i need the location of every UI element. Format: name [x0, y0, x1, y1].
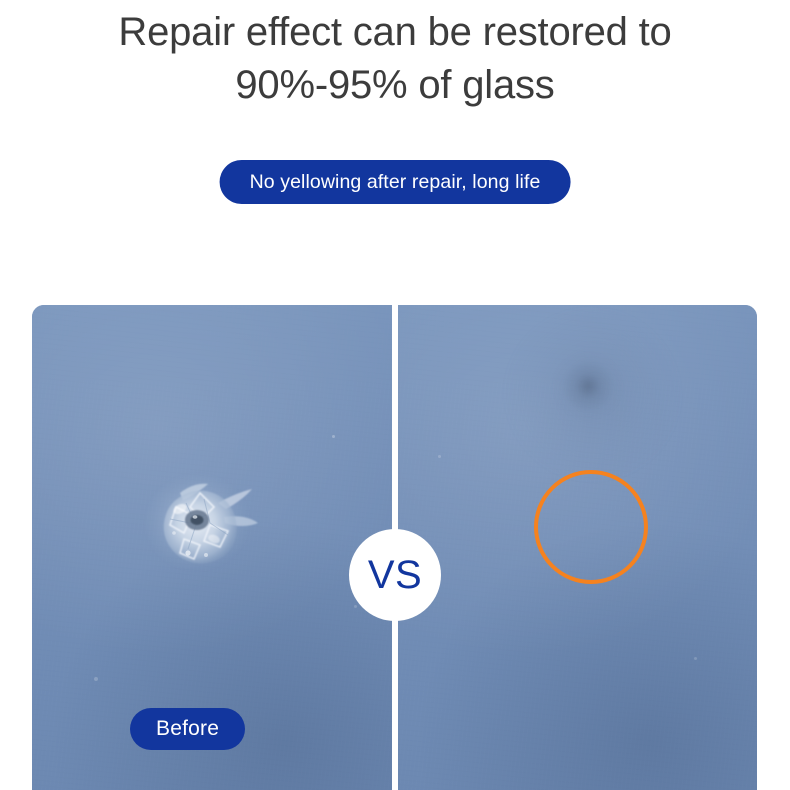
vs-badge: VS	[349, 529, 441, 621]
dust-speck	[438, 455, 441, 458]
dust-speck	[332, 435, 335, 438]
vs-label: VS	[368, 555, 422, 595]
feature-badge: No yellowing after repair, long life	[220, 160, 571, 204]
repair-highlight-circle-icon	[534, 470, 648, 584]
before-label: Before	[156, 717, 219, 741]
before-label-pill: Before	[130, 708, 245, 750]
glass-chip-damage	[140, 463, 280, 583]
before-after-comparison: Before After VS	[32, 305, 757, 790]
before-photo-panel: Before	[32, 305, 392, 790]
dust-speck	[694, 657, 697, 660]
feature-badge-label: No yellowing after repair, long life	[250, 171, 541, 194]
page-title: Repair effect can be restored to 90%-95%…	[0, 6, 790, 112]
dust-speck	[354, 605, 357, 608]
repaired-spot	[553, 353, 623, 419]
dust-speck	[94, 677, 98, 681]
promo-page: Repair effect can be restored to 90%-95%…	[0, 0, 790, 790]
